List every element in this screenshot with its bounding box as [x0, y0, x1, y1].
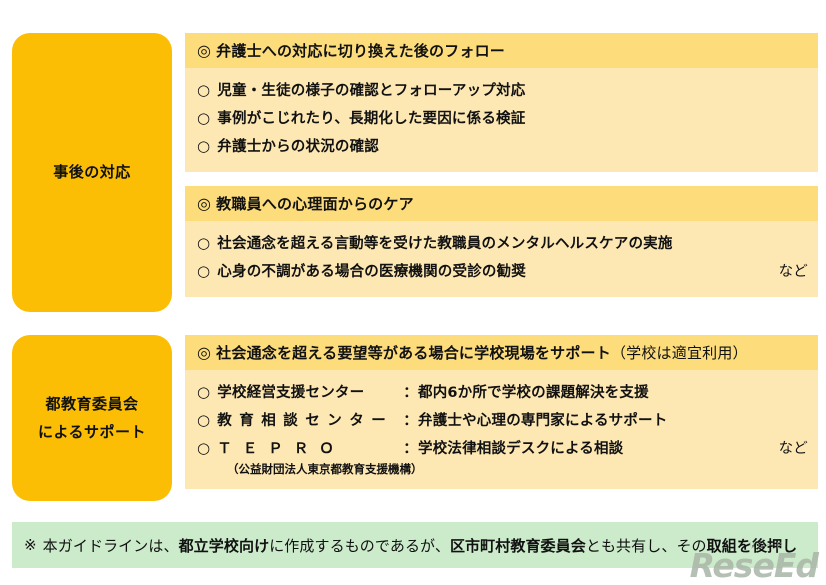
footer-note: ※本ガイドラインは、都立学校向けに作成するものであるが、区市町村教育委員会とも共…	[12, 522, 818, 568]
list-item: ○ 事例がこじれたり、長期化した要因に係る検証	[197, 105, 808, 133]
card-header-text: 社会通念を超える要望等がある場合に学校現場をサポート	[216, 344, 611, 362]
organization-subnote: （公益財団法人東京都教育支援機構）	[197, 463, 808, 478]
list-item: ○ 教育相談センター ：弁護士や心理の専門家によるサポート	[197, 407, 808, 435]
section-label-line: によるサポート	[38, 418, 146, 447]
section-label-post-response: 事後の対応	[12, 33, 172, 312]
circle-marker-icon: ○	[197, 263, 210, 280]
card-body-staff-mental-care: ○ 社会通念を超える言動等を受けた教職員のメンタルヘルスケアの実施 ○ 心身の不…	[185, 221, 818, 297]
list-item-text: 心身の不調がある場合の医療機関の受診の勧奨	[217, 265, 526, 281]
circle-marker-icon: ○	[197, 235, 210, 252]
circle-marker-icon: ○	[197, 384, 210, 401]
list-item: ○ 弁護士からの状況の確認	[197, 133, 808, 161]
section-body-board-of-education-support: ◎社会通念を超える要望等がある場合に学校現場をサポート（学校は適宜利用） ○ 学…	[185, 335, 818, 501]
card-body-school-site-support: ○ 学校経営支援センター ：都内6か所で学校の課題解決を支援 ○ 教育相談センタ…	[185, 370, 818, 488]
circle-marker-icon: ○	[197, 138, 210, 155]
list-item: ○ 学校経営支援センター ：都内6か所で学校の課題解決を支援	[197, 379, 808, 407]
section-body-post-response: ◎弁護士への対応に切り換えた後のフォロー ○ 児童・生徒の様子の確認とフォローア…	[185, 33, 818, 312]
list-item-org-name: 学校経営支援センター	[217, 386, 403, 402]
list-item-suffix: など	[755, 265, 808, 281]
card-header-tail: （学校は適宜利用）	[611, 344, 748, 362]
reference-mark-icon: ※	[24, 536, 37, 554]
double-circle-marker-icon: ◎	[197, 343, 211, 362]
circle-marker-icon: ○	[197, 412, 210, 429]
list-item: ○ ＴＥＰＲＯ ：学校法律相談デスクによる相談 など	[197, 435, 808, 463]
section-label-board-of-education-support: 都教育委員会 によるサポート	[12, 335, 172, 501]
card-header-text: 教職員への心理面からのケア	[216, 195, 414, 213]
list-item: ○ 心身の不調がある場合の医療機関の受診の勧奨 など	[197, 258, 808, 286]
card-lawyer-followup: ◎弁護士への対応に切り換えた後のフォロー ○ 児童・生徒の様子の確認とフォローア…	[185, 33, 818, 172]
footer-text-emphasis: 取組を後押し	[707, 535, 798, 556]
list-item-text: 社会通念を超える言動等を受けた教職員のメンタルヘルスケアの実施	[217, 237, 672, 253]
circle-marker-icon: ○	[197, 440, 210, 457]
footer-text-emphasis: 都立学校向け	[179, 535, 270, 556]
card-header-staff-mental-care: ◎教職員への心理面からのケア	[185, 186, 818, 221]
section-post-response: 事後の対応 ◎弁護士への対応に切り換えた後のフォロー ○ 児童・生徒の様子の確認…	[12, 33, 818, 312]
circle-marker-icon: ○	[197, 110, 210, 127]
list-item-description: ：都内6か所で学校の課題解決を支援	[403, 386, 649, 402]
footer-text-part: 本ガイドラインは、	[43, 535, 179, 556]
list-item-description: ：学校法律相談デスクによる相談	[403, 442, 623, 458]
double-circle-marker-icon: ◎	[197, 194, 211, 213]
list-item-text: 児童・生徒の様子の確認とフォローアップ対応	[217, 84, 525, 100]
list-item-text: 弁護士からの状況の確認	[217, 140, 379, 156]
card-school-site-support: ◎社会通念を超える要望等がある場合に学校現場をサポート（学校は適宜利用） ○ 学…	[185, 335, 818, 489]
card-body-lawyer-followup: ○ 児童・生徒の様子の確認とフォローアップ対応 ○ 事例がこじれたり、長期化した…	[185, 68, 818, 172]
card-header-lawyer-followup: ◎弁護士への対応に切り換えた後のフォロー	[185, 33, 818, 68]
circle-marker-icon: ○	[197, 82, 210, 99]
footer-text-part: に作成するものであるが、	[269, 535, 450, 556]
section-label-line: 都教育委員会	[45, 390, 138, 419]
list-item-org-name: 教育相談センター	[217, 414, 403, 430]
footer-text-emphasis: 区市町村教育委員会	[450, 535, 586, 556]
section-label-line: 事後の対応	[53, 158, 131, 187]
card-header-text: 弁護士への対応に切り換えた後のフォロー	[216, 42, 505, 60]
list-item-org-name: ＴＥＰＲＯ	[217, 442, 403, 458]
list-item: ○ 児童・生徒の様子の確認とフォローアップ対応	[197, 77, 808, 105]
card-staff-mental-care: ◎教職員への心理面からのケア ○ 社会通念を超える言動等を受けた教職員のメンタル…	[185, 186, 818, 297]
list-item: ○ 社会通念を超える言動等を受けた教職員のメンタルヘルスケアの実施	[197, 230, 808, 258]
section-board-of-education-support: 都教育委員会 によるサポート ◎社会通念を超える要望等がある場合に学校現場をサポ…	[12, 335, 818, 501]
card-header-school-site-support: ◎社会通念を超える要望等がある場合に学校現場をサポート（学校は適宜利用）	[185, 335, 818, 370]
list-item-description: ：弁護士や心理の専門家によるサポート	[403, 414, 667, 430]
list-item-text: 事例がこじれたり、長期化した要因に係る検証	[217, 112, 525, 128]
footer-text-part: とも共有し、その	[586, 535, 707, 556]
double-circle-marker-icon: ◎	[197, 41, 211, 60]
list-item-suffix: など	[755, 442, 808, 458]
slide-canvas: 事後の対応 ◎弁護士への対応に切り換えた後のフォロー ○ 児童・生徒の様子の確認…	[0, 0, 826, 584]
